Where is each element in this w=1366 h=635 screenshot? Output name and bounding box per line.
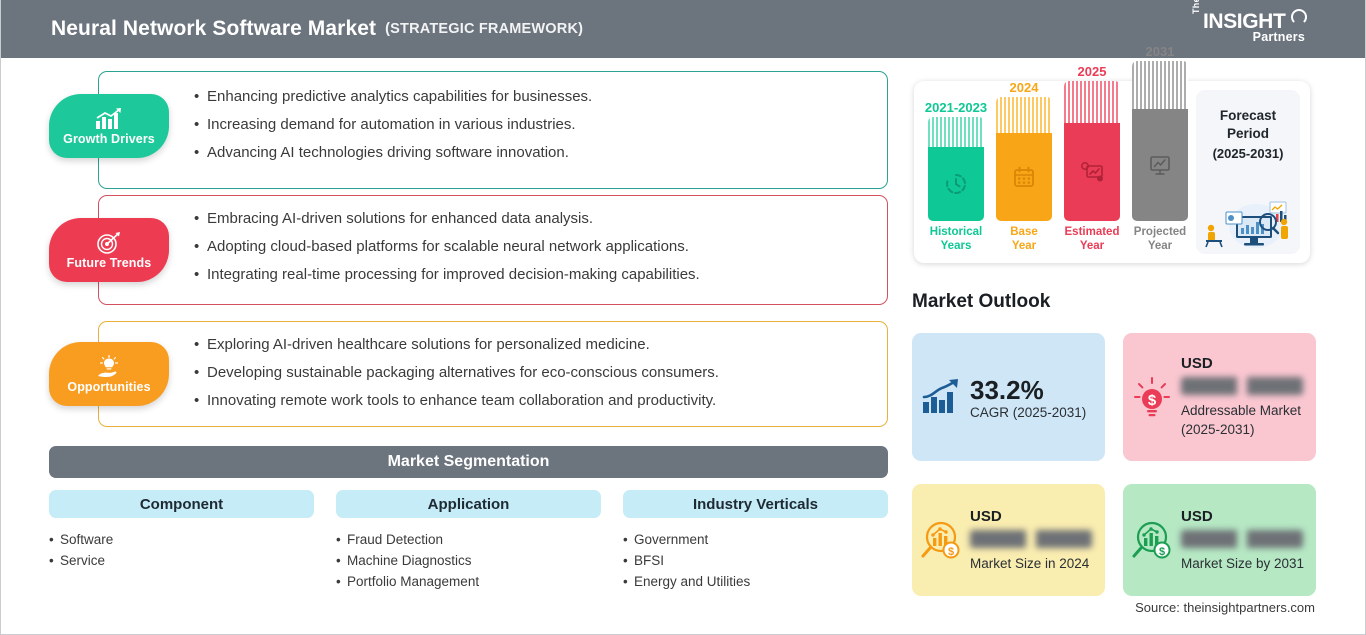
- bar-solid-section: [1132, 109, 1188, 221]
- forecast-bar-estimated: 2025 EstimatedYear: [1064, 64, 1120, 253]
- page-subtitle: (STRATEGIC FRAMEWORK): [385, 21, 583, 37]
- page-title: Neural Network Software Market: [51, 17, 376, 41]
- bar-year-label: 2025: [1078, 64, 1107, 79]
- segmentation-header: Industry Verticals: [623, 490, 888, 518]
- bar-stripe-section: [1132, 61, 1188, 109]
- bar-solid-section: [1064, 123, 1120, 221]
- forecast-bars: 2021-2023 HistoricalYears 2024: [928, 81, 1192, 263]
- bar-caption-line2: Year: [1080, 240, 1104, 252]
- magnifier-chart-dollar-icon: $: [919, 519, 963, 561]
- list-item: Developing sustainable packaging alterna…: [194, 359, 887, 387]
- segmentation-column-component: Component Software Service: [49, 490, 314, 571]
- outlook-card-market-size-2031: $ USD Market Size by 2031: [1123, 484, 1316, 596]
- card-body: USD Market Size by 2031: [1181, 508, 1316, 573]
- bar-shape: [928, 117, 984, 221]
- forecast-period-line1: Forecast: [1220, 108, 1276, 123]
- badge-label: Opportunities: [67, 380, 150, 394]
- market-outlook-title: Market Outlook: [912, 291, 1050, 313]
- lightbulb-dollar-icon: $: [1131, 375, 1173, 419]
- opportunities-list: Exploring AI-driven healthcare solutions…: [194, 322, 887, 415]
- outlook-card-addressable-market: $ USD Addressable Market (2025-2031): [1123, 333, 1316, 461]
- segmentation-header: Application: [336, 490, 601, 518]
- business-analytics-illustration: [1200, 186, 1296, 248]
- cagr-value: 33.2%: [970, 375, 1097, 405]
- insight-partners-logo: The INSIGHT Partners: [1191, 8, 1309, 50]
- list-item: Enhancing predictive analytics capabilit…: [194, 83, 887, 111]
- segmentation-column-industry-verticals: Industry Verticals Government BFSI Energ…: [623, 490, 888, 592]
- lightbulb-hand-icon: [94, 355, 124, 379]
- bar-caption-line2: Year: [1148, 240, 1172, 252]
- segmentation-items: Software Service: [49, 529, 314, 571]
- card-label: Market Size by 2031: [1181, 554, 1308, 573]
- bar-chart-arrow-icon: [920, 378, 962, 416]
- card-icon-wrap: $: [1123, 375, 1181, 419]
- outlook-card-market-size-2024: $ USD Market Size in 2024: [912, 484, 1105, 596]
- forecast-period-title: Forecast Period: [1220, 107, 1276, 143]
- bar-solid-section: [928, 147, 984, 221]
- badge-label: Growth Drivers: [63, 132, 155, 146]
- presentation-chart-icon: [1147, 153, 1173, 177]
- growth-drivers-list: Enhancing predictive analytics capabilit…: [194, 72, 887, 167]
- panel-growth-drivers: Enhancing predictive analytics capabilit…: [98, 71, 888, 189]
- badge-future-trends[interactable]: Future Trends: [49, 218, 169, 282]
- list-item: Portfolio Management: [336, 571, 601, 592]
- panel-opportunities: Exploring AI-driven healthcare solutions…: [98, 321, 888, 427]
- logo-partners-text: Partners: [1253, 30, 1305, 44]
- analytics-gear-icon: [1079, 160, 1105, 184]
- currency-label: USD: [1181, 355, 1308, 372]
- svg-text:$: $: [1148, 392, 1157, 409]
- list-item: Advancing AI technologies driving softwa…: [194, 139, 887, 167]
- list-item: Service: [49, 550, 314, 571]
- bar-year-label: 2024: [1010, 80, 1039, 95]
- forecast-bar-historical: 2021-2023 HistoricalYears: [928, 100, 984, 253]
- bar-year-label: 2021-2023: [925, 100, 987, 115]
- bar-caption-line1: Base: [1010, 226, 1038, 238]
- calendar-icon: [1012, 165, 1036, 189]
- bar-caption-line2: Years: [941, 240, 972, 252]
- list-item: Integrating real-time processing for imp…: [194, 261, 887, 289]
- bar-stripe-section: [1064, 81, 1120, 123]
- list-item: Increasing demand for automation in vari…: [194, 111, 887, 139]
- card-body: USD Market Size in 2024: [970, 508, 1105, 573]
- bar-stripe-section: [928, 117, 984, 147]
- card-icon-wrap: $: [912, 519, 970, 561]
- list-item: Fraud Detection: [336, 529, 601, 550]
- list-item: Software: [49, 529, 314, 550]
- bar-caption-line1: Estimated: [1065, 226, 1120, 238]
- bar-shape: [1064, 81, 1120, 221]
- badge-label: Future Trends: [67, 256, 152, 270]
- bar-stripe-section: [996, 97, 1052, 133]
- svg-text:$: $: [1159, 546, 1165, 558]
- market-segmentation-title: Market Segmentation: [49, 446, 888, 478]
- currency-label: USD: [1181, 508, 1308, 525]
- list-item: Innovating remote work tools to enhance …: [194, 387, 887, 415]
- card-body: 33.2% CAGR (2025-2031): [970, 375, 1105, 420]
- target-dart-icon: [95, 231, 123, 255]
- list-item: Exploring AI-driven healthcare solutions…: [194, 331, 887, 359]
- forecast-period-panel: Forecast Period (2025-2031): [1196, 90, 1300, 254]
- forecast-period-range: (2025-2031): [1213, 146, 1284, 161]
- forecast-period-line2: Period: [1227, 126, 1269, 141]
- list-item: Machine Diagnostics: [336, 550, 601, 571]
- source-text: Source: theinsightpartners.com: [1135, 600, 1315, 615]
- bar-caption: EstimatedYear: [1065, 225, 1120, 253]
- list-item: Embracing AI-driven solutions for enhanc…: [194, 205, 887, 233]
- segmentation-header: Component: [49, 490, 314, 518]
- segmentation-column-application: Application Fraud Detection Machine Diag…: [336, 490, 601, 592]
- card-label: Market Size in 2024: [970, 554, 1097, 573]
- bar-caption: ProjectedYear: [1134, 225, 1186, 253]
- list-item: Adopting cloud-based platforms for scala…: [194, 233, 887, 261]
- currency-label: USD: [970, 508, 1097, 525]
- badge-opportunities[interactable]: Opportunities: [49, 342, 169, 406]
- panel-future-trends: Embracing AI-driven solutions for enhanc…: [98, 195, 888, 305]
- bar-shape: [996, 97, 1052, 221]
- bar-caption: HistoricalYears: [930, 225, 982, 253]
- list-item: Energy and Utilities: [623, 571, 888, 592]
- masked-value: [1181, 377, 1303, 395]
- bar-caption-line1: Projected: [1134, 226, 1186, 238]
- bar-year-label: 2031: [1146, 44, 1175, 59]
- card-label: Addressable Market (2025-2031): [1181, 401, 1308, 439]
- magnifier-chart-dollar-icon: $: [1130, 519, 1174, 561]
- segmentation-items: Fraud Detection Machine Diagnostics Port…: [336, 529, 601, 592]
- bar-shape: [1132, 61, 1188, 221]
- bar-solid-section: [996, 133, 1052, 221]
- svg-text:$: $: [948, 546, 954, 558]
- bar-caption-line1: Historical: [930, 226, 982, 238]
- card-body: USD Addressable Market (2025-2031): [1181, 355, 1316, 439]
- list-item: BFSI: [623, 550, 888, 571]
- infographic-page: Neural Network Software Market (STRATEGI…: [0, 0, 1366, 635]
- logo-ring-icon: [1291, 9, 1307, 25]
- list-item: Government: [623, 529, 888, 550]
- segmentation-items: Government BFSI Energy and Utilities: [623, 529, 888, 592]
- badge-growth-drivers[interactable]: Growth Drivers: [49, 94, 169, 158]
- forecast-bar-projected: 2031 ProjectedYear: [1132, 44, 1188, 253]
- bar-caption-line2: Year: [1012, 240, 1036, 252]
- bar-caption: BaseYear: [1010, 225, 1038, 253]
- outlook-card-cagr: 33.2% CAGR (2025-2031): [912, 333, 1105, 461]
- logo-the-text: The: [1191, 0, 1201, 14]
- card-icon-wrap: [912, 378, 970, 416]
- card-icon-wrap: $: [1123, 519, 1181, 561]
- future-trends-list: Embracing AI-driven solutions for enhanc…: [194, 196, 887, 289]
- forecast-card: 2021-2023 HistoricalYears 2024: [914, 81, 1310, 263]
- cagr-label: CAGR (2025-2031): [970, 405, 1097, 420]
- masked-value: [970, 530, 1092, 548]
- forecast-bar-base: 2024: [996, 80, 1052, 253]
- clock-history-icon: [943, 171, 969, 197]
- bar-chart-growth-icon: [94, 107, 124, 131]
- masked-value: [1181, 530, 1303, 548]
